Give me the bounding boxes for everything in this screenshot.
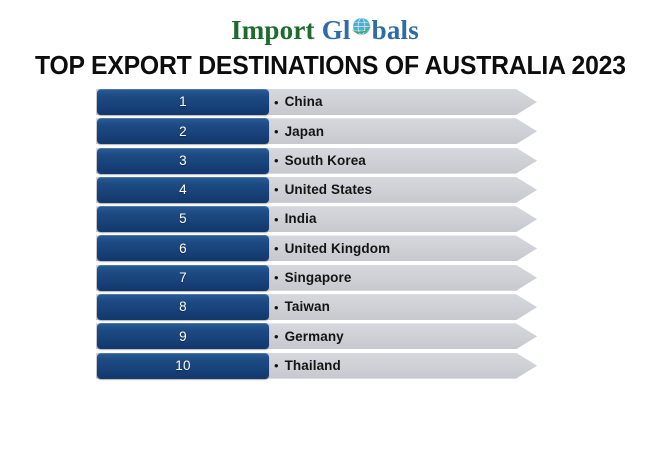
list-item: 2 • Japan: [0, 118, 650, 144]
rank-number: 8: [179, 300, 187, 314]
rank-number: 1: [179, 95, 187, 109]
list-item: 4 • United States: [0, 177, 650, 203]
bullet-icon: •: [274, 125, 279, 138]
rank-number: 9: [179, 330, 187, 344]
list-item: 7 • Singapore: [0, 265, 650, 291]
country-name: United Kingdom: [285, 242, 391, 256]
country-label-group: • South Korea: [274, 148, 366, 174]
rank-number: 7: [179, 271, 187, 285]
rank-number: 10: [175, 359, 191, 373]
country-label-group: • Japan: [274, 118, 324, 144]
ranking-list: 1 • China 2 • Japan 3 • South Korea 4: [0, 89, 650, 382]
country-label-group: • United States: [274, 177, 372, 203]
country-name: India: [285, 212, 317, 226]
list-item: 9 • Germany: [0, 323, 650, 349]
rank-number: 4: [179, 183, 187, 197]
country-name: Germany: [285, 330, 344, 344]
logo-word-globals-suffix: bals: [372, 13, 419, 47]
list-item: 6 • United Kingdom: [0, 235, 650, 261]
country-label-group: • United Kingdom: [274, 235, 390, 261]
page-title: TOP EXPORT DESTINATIONS OF AUSTRALIA 202…: [35, 52, 615, 81]
rank-badge: 9: [97, 323, 269, 349]
bullet-icon: •: [274, 330, 279, 343]
country-name: South Korea: [285, 154, 366, 168]
country-label-group: • China: [274, 89, 323, 115]
rank-badge: 2: [97, 118, 269, 144]
country-name: United States: [285, 183, 373, 197]
country-name: Thailand: [285, 359, 341, 373]
rank-badge: 5: [97, 206, 269, 232]
rank-badge: 10: [97, 353, 269, 379]
brand-logo: ImportGl bals: [0, 13, 650, 47]
country-label-group: • India: [274, 206, 317, 232]
country-label-group: • Taiwan: [274, 294, 330, 320]
country-label-group: • Singapore: [274, 265, 351, 291]
rank-badge: 7: [97, 265, 269, 291]
rank-number: 6: [179, 242, 187, 256]
country-name: Singapore: [285, 271, 352, 285]
logo-word-import: Import: [231, 13, 315, 47]
rank-number: 5: [179, 212, 187, 226]
bullet-icon: •: [274, 96, 279, 109]
country-name: Taiwan: [285, 300, 330, 314]
rank-badge: 3: [97, 148, 269, 174]
rank-badge: 8: [97, 294, 269, 320]
globe-icon: [351, 16, 372, 37]
rank-badge: 6: [97, 235, 269, 261]
bullet-icon: •: [274, 359, 279, 372]
rank-number: 3: [179, 154, 187, 168]
bullet-icon: •: [274, 242, 279, 255]
list-item: 1 • China: [0, 89, 650, 115]
bullet-icon: •: [274, 183, 279, 196]
list-item: 10 • Thailand: [0, 353, 650, 379]
logo-word-globals-prefix: Gl: [322, 13, 351, 47]
country-name: China: [285, 95, 323, 109]
country-label-group: • Thailand: [274, 353, 341, 379]
bullet-icon: •: [274, 271, 279, 284]
list-item: 5 • India: [0, 206, 650, 232]
country-label-group: • Germany: [274, 323, 344, 349]
bullet-icon: •: [274, 301, 279, 314]
bullet-icon: •: [274, 213, 279, 226]
rank-number: 2: [179, 125, 187, 139]
rank-badge: 4: [97, 177, 269, 203]
list-item: 8 • Taiwan: [0, 294, 650, 320]
bullet-icon: •: [274, 154, 279, 167]
country-name: Japan: [285, 125, 325, 139]
list-item: 3 • South Korea: [0, 148, 650, 174]
rank-badge: 1: [97, 89, 269, 115]
